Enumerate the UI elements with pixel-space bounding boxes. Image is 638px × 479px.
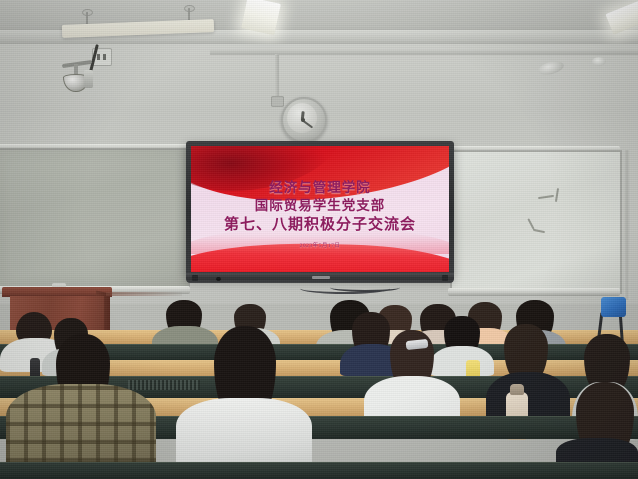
wall-junction-box	[271, 96, 284, 107]
slide-title-line-3: 第七、八期积极分子交流会	[191, 215, 449, 236]
display-screen: 经济与管理学院 国际贸易学生党支部 第七、八期积极分子交流会 2023年5月17…	[191, 146, 449, 272]
display-speaker-left	[192, 275, 198, 281]
display-ir-sensor	[216, 277, 221, 281]
clock-center-pin	[301, 118, 305, 122]
classroom-photo: 经济与管理学院 国际贸易学生党支部 第七、八期积极分子交流会 2023年5月17…	[0, 0, 638, 479]
desk-vent	[128, 380, 200, 390]
ceiling-fixture	[592, 57, 606, 66]
slide-date: 2023年5月17日	[191, 241, 449, 249]
wall-conduit-drop	[275, 54, 279, 98]
whiteboard-rail-bottom	[448, 288, 620, 296]
blue-chair	[601, 297, 626, 317]
display-cable	[330, 283, 400, 292]
presentation-display[interactable]: 经济与管理学院 国际贸易学生党支部 第七、八期积极分子交流会 2023年5月17…	[186, 141, 454, 277]
slide-title-line-2: 国际贸易学生党支部	[191, 197, 449, 215]
wall-clock-icon	[281, 97, 327, 143]
light-hanger	[86, 12, 88, 24]
display-speaker-right	[442, 275, 448, 281]
thermos-cap	[510, 384, 524, 395]
whiteboard	[450, 150, 622, 294]
slide-title-line-1: 经济与管理学院	[191, 179, 449, 197]
slide-text-block: 经济与管理学院 国际贸易学生党支部 第七、八期积极分子交流会 2023年5月17…	[191, 179, 449, 249]
chalkboard	[0, 148, 190, 292]
display-brand-logo	[312, 276, 330, 279]
light-hanger	[188, 8, 190, 20]
camera-housing	[84, 70, 93, 88]
wall-pipe	[624, 150, 630, 300]
podium-shadow	[106, 292, 182, 296]
front-seat-back	[0, 462, 638, 479]
